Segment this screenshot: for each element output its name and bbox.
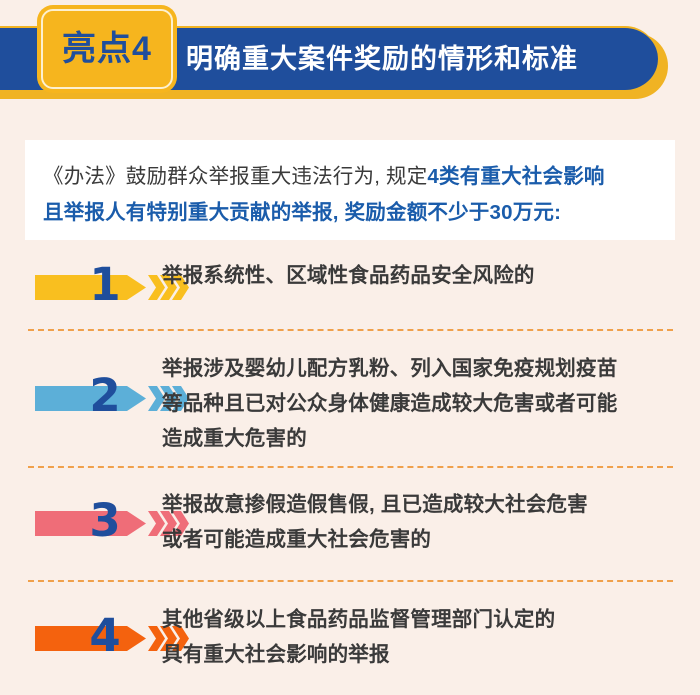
divider: [28, 466, 673, 468]
highlight-badge: 亮点4: [37, 5, 177, 93]
item-arrow-graphic: 4: [35, 609, 170, 667]
item-text-line: 或者可能造成重大社会危害的: [162, 522, 682, 557]
item-text-line: 等品种且已对公众身体健康造成较大危害或者可能: [162, 386, 682, 421]
badge-label: 亮点4: [37, 5, 177, 93]
intro-text-bold-2: 且举报人有特别重大贡献的举报, 奖励金额不少于30万元:: [43, 201, 561, 224]
item-arrow-graphic: 1: [35, 258, 170, 316]
item-text: 其他省级以上食品药品监督管理部门认定的 具有重大社会影响的举报: [162, 602, 682, 672]
page-title: 明确重大案件奖励的情形和标准: [186, 26, 578, 92]
item-arrow-graphic: 3: [35, 494, 170, 552]
divider: [28, 329, 673, 331]
item-text: 举报系统性、区域性食品药品安全风险的: [162, 258, 682, 293]
item-number: 3: [79, 492, 131, 550]
item-text-line: 造成重大危害的: [162, 421, 682, 456]
item-arrow-graphic: 2: [35, 369, 170, 427]
item-number: 1: [79, 256, 131, 314]
item-number: 4: [79, 607, 131, 665]
intro-text-bold-1: 4类有重大社会影响: [427, 165, 604, 188]
intro-line-1: 《办法》鼓励群众举报重大违法行为, 规定4类有重大社会影响: [43, 159, 605, 189]
item-text-line: 具有重大社会影响的举报: [162, 637, 682, 672]
divider: [28, 580, 673, 582]
item-text-line: 其他省级以上食品药品监督管理部门认定的: [162, 602, 682, 637]
intro-panel: 《办法》鼓励群众举报重大违法行为, 规定4类有重大社会影响 且举报人有特别重大贡…: [25, 140, 675, 240]
item-text-line: 举报故意掺假造假售假, 且已造成较大社会危害: [162, 487, 682, 522]
item-text: 举报涉及婴幼儿配方乳粉、列入国家免疫规划疫苗 等品种且已对公众身体健康造成较大危…: [162, 351, 682, 456]
item-text: 举报故意掺假造假售假, 且已造成较大社会危害 或者可能造成重大社会危害的: [162, 487, 682, 557]
intro-text-normal: 《办法》鼓励群众举报重大违法行为, 规定: [43, 165, 427, 188]
item-number: 2: [79, 367, 131, 425]
intro-line-2: 且举报人有特别重大贡献的举报, 奖励金额不少于30万元:: [43, 195, 561, 225]
item-text-line: 举报涉及婴幼儿配方乳粉、列入国家免疫规划疫苗: [162, 351, 682, 386]
item-text-line: 举报系统性、区域性食品药品安全风险的: [162, 258, 682, 293]
header-banner: 明确重大案件奖励的情形和标准 亮点4: [0, 26, 700, 100]
